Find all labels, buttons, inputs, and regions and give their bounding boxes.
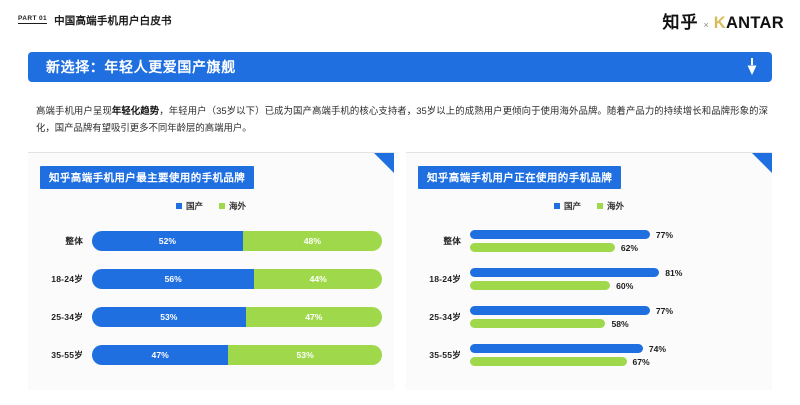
bar-segment-domestic[interactable]: 53% — [92, 307, 246, 327]
bar-group: 74%67% — [470, 344, 762, 367]
category-label: 整体 — [36, 235, 92, 247]
bar-segment-overseas[interactable]: 44% — [254, 269, 382, 289]
summary-paragraph: 高端手机用户呈现年轻化趋势，年轻用户（35岁以下）已成为国产高端手机的核心支持者… — [36, 102, 768, 137]
bar-overseas[interactable] — [470, 281, 610, 290]
legend-label-domestic: 国产 — [564, 200, 581, 212]
bar-overseas[interactable] — [470, 319, 605, 328]
bar-line: 67% — [470, 357, 762, 367]
bar-value-label: 58% — [611, 319, 628, 329]
bar-track: 47%53% — [92, 345, 382, 365]
chart-row: 25-34岁77%58% — [414, 298, 762, 336]
category-label: 整体 — [414, 235, 470, 247]
chart-legend-primary: 国产 海外 — [28, 200, 394, 212]
legend-swatch-domestic — [176, 203, 182, 209]
bar-value-label: 81% — [665, 268, 682, 278]
bar-domestic[interactable] — [470, 230, 650, 239]
breadcrumb: PART 01 中国高端手机用户白皮书 — [18, 13, 172, 28]
grouped-bar-chart: 整体77%62%18-24岁81%60%25-34岁77%58%35-55岁74… — [406, 222, 772, 374]
legend-label-domestic: 国产 — [186, 200, 203, 212]
chart-row: 整体77%62% — [414, 222, 762, 260]
bar-overseas[interactable] — [470, 243, 615, 252]
stacked-bar-chart: 整体52%48%18-24岁56%44%25-34岁53%47%35-55岁47… — [28, 222, 394, 374]
bar-segment-domestic[interactable]: 52% — [92, 231, 243, 251]
chart-row: 35-55岁47%53% — [36, 336, 382, 374]
bar-value-label: 62% — [621, 243, 638, 253]
legend-label-overseas: 海外 — [607, 200, 624, 212]
bar-line: 62% — [470, 243, 762, 253]
top-header: PART 01 中国高端手机用户白皮书 知乎 × KANTAR — [0, 0, 800, 40]
bar-group: 77%58% — [470, 306, 762, 329]
category-label: 25-34岁 — [414, 311, 470, 323]
kantar-logo-initial: K — [714, 14, 726, 32]
legend-swatch-overseas — [219, 203, 225, 209]
bar-value-label: 60% — [616, 281, 633, 291]
category-label: 35-55岁 — [36, 349, 92, 361]
chart-title-primary: 知乎高端手机用户最主要使用的手机品牌 — [40, 166, 254, 189]
category-label: 35-55岁 — [414, 349, 470, 361]
chart-panel-primary-brand: 知乎高端手机用户最主要使用的手机品牌 国产 海外 整体52%48%18-24岁5… — [28, 152, 394, 390]
bar-value-label: 74% — [649, 344, 666, 354]
bar-segment-overseas[interactable]: 47% — [246, 307, 382, 327]
bar-value-label: 77% — [656, 306, 673, 316]
down-arrow-icon — [746, 58, 758, 76]
cross-icon: × — [703, 20, 708, 30]
kantar-logo: KANTAR — [714, 14, 784, 33]
kantar-logo-rest: ANTAR — [726, 14, 784, 32]
bar-track: 56%44% — [92, 269, 382, 289]
bar-track: 52%48% — [92, 231, 382, 251]
chart-row: 18-24岁56%44% — [36, 260, 382, 298]
category-label: 18-24岁 — [36, 273, 92, 285]
chart-row: 整体52%48% — [36, 222, 382, 260]
bar-line: 58% — [470, 319, 762, 329]
summary-highlight: 年轻化趋势 — [112, 105, 159, 116]
section-title-bar: 新选择：年轻人更爱国产旗舰 — [28, 52, 772, 82]
category-label: 25-34岁 — [36, 311, 92, 323]
legend-swatch-domestic — [554, 203, 560, 209]
bar-line: 77% — [470, 306, 762, 316]
document-title: 中国高端手机用户白皮书 — [54, 13, 172, 28]
bar-line: 60% — [470, 281, 762, 291]
chart-row: 18-24岁81%60% — [414, 260, 762, 298]
chart-row: 25-34岁53%47% — [36, 298, 382, 336]
brand-logo: 知乎 × KANTAR — [662, 8, 784, 33]
bar-group: 77%62% — [470, 230, 762, 253]
bar-domestic[interactable] — [470, 268, 659, 277]
section-title-text: 新选择：年轻人更爱国产旗舰 — [46, 57, 236, 77]
bar-line: 74% — [470, 344, 762, 354]
chart-legend-current: 国产 海外 — [406, 200, 772, 212]
bar-overseas[interactable] — [470, 357, 627, 366]
bar-segment-overseas[interactable]: 48% — [243, 231, 382, 251]
summary-part-1: 高端手机用户呈现 — [36, 105, 112, 116]
bar-segment-domestic[interactable]: 47% — [92, 345, 228, 365]
legend-item-domestic[interactable]: 国产 — [554, 200, 581, 212]
bar-track: 53%47% — [92, 307, 382, 327]
chart-title-current: 知乎高端手机用户正在使用的手机品牌 — [418, 166, 621, 189]
bar-line: 81% — [470, 268, 762, 278]
bar-segment-domestic[interactable]: 56% — [92, 269, 254, 289]
zhihu-logo: 知乎 — [662, 8, 698, 33]
bar-line: 77% — [470, 230, 762, 240]
corner-triangle-icon — [752, 153, 772, 173]
part-tag: PART 01 — [18, 16, 47, 25]
bar-group: 81%60% — [470, 268, 762, 291]
corner-triangle-icon — [374, 153, 394, 173]
bar-value-label: 77% — [656, 230, 673, 240]
chart-row: 35-55岁74%67% — [414, 336, 762, 374]
slide-page: PART 01 中国高端手机用户白皮书 知乎 × KANTAR 新选择：年轻人更… — [0, 0, 800, 405]
bar-domestic[interactable] — [470, 344, 643, 353]
legend-label-overseas: 海外 — [229, 200, 246, 212]
legend-item-domestic[interactable]: 国产 — [176, 200, 203, 212]
legend-swatch-overseas — [597, 203, 603, 209]
bar-value-label: 67% — [633, 357, 650, 367]
category-label: 18-24岁 — [414, 273, 470, 285]
bar-domestic[interactable] — [470, 306, 650, 315]
legend-item-overseas[interactable]: 海外 — [597, 200, 624, 212]
bar-segment-overseas[interactable]: 53% — [228, 345, 382, 365]
charts-container: 知乎高端手机用户最主要使用的手机品牌 国产 海外 整体52%48%18-24岁5… — [28, 152, 772, 390]
legend-item-overseas[interactable]: 海外 — [219, 200, 246, 212]
chart-panel-current-brand: 知乎高端手机用户正在使用的手机品牌 国产 海外 整体77%62%18-24岁81… — [406, 152, 772, 390]
